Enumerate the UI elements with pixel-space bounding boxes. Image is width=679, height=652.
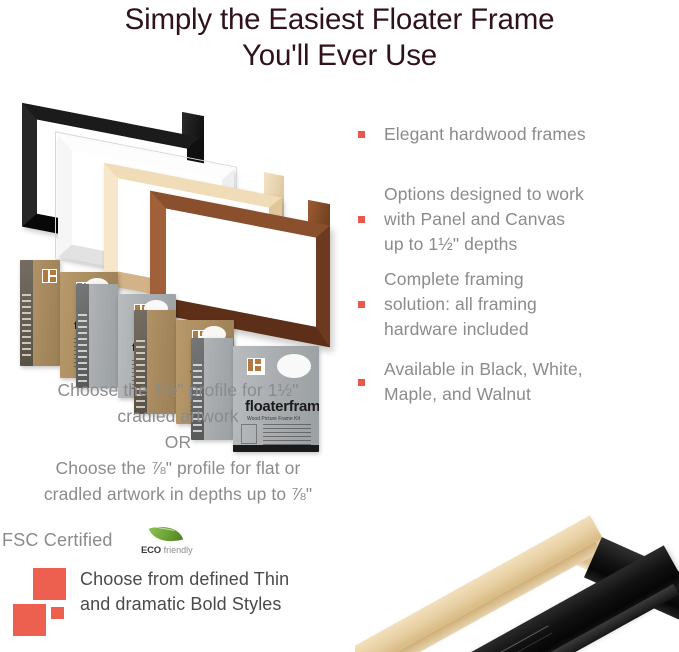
feature-line: Elegant hardwood frames: [384, 124, 586, 144]
feature-line: Maple, and Walnut: [384, 382, 583, 407]
profile-line-3: OR: [0, 429, 356, 455]
profile-line-5: cradled artwork in depths up to ⅞": [0, 481, 356, 507]
bullet-square-icon: [358, 216, 365, 223]
product-photo-frame-stack: floaterframe floaterframe: [8, 112, 356, 364]
package-box: [76, 284, 118, 388]
feature-line: hardware included: [384, 317, 537, 342]
feature-line: solution: all framing: [384, 292, 537, 317]
styles-line-2: and dramatic Bold Styles: [80, 592, 360, 617]
brand-logo-icon: [42, 269, 57, 283]
corner-profile-photo: [355, 470, 679, 652]
feature-line: with Panel and Canvas: [384, 207, 584, 232]
box-spine-ticks: [22, 294, 31, 360]
profile-line-4: Choose the ⅞" profile for flat or: [0, 455, 356, 481]
bullet-square-icon: [358, 301, 365, 308]
title-line-2: You'll Ever Use: [0, 38, 679, 74]
box-spine: [20, 260, 33, 366]
marketing-infographic: Simply the Easiest Floater Frame You'll …: [0, 0, 679, 652]
styles-line-1: Choose from defined Thin: [80, 567, 360, 592]
bullet-square-icon: [358, 379, 365, 386]
feature-line: Available in Black, White,: [384, 357, 583, 382]
eco-light-text: friendly: [164, 545, 193, 555]
feature-item-2: Options designed to work with Panel and …: [358, 182, 676, 257]
eco-friendly-badge: ECO friendly: [140, 524, 196, 560]
feature-item-3: Complete framing solution: all framing h…: [358, 267, 676, 342]
eco-badge-text: ECO friendly: [141, 545, 193, 556]
bullet-square-icon: [358, 131, 365, 138]
box-spine-ticks: [78, 314, 87, 382]
feature-line: up to 1½" depths: [384, 232, 584, 257]
feature-item-4: Available in Black, White, Maple, and Wa…: [358, 357, 676, 407]
frame-stack: floaterframe floaterframe: [8, 112, 356, 364]
profile-instructions: Choose the 1½" profile for 1½" cradled a…: [0, 377, 356, 507]
eco-bold-text: ECO: [141, 545, 161, 556]
black-frame-highlight: [447, 632, 552, 652]
feature-item-1: Elegant hardwood frames: [358, 122, 676, 147]
feature-text: Options designed to work with Panel and …: [384, 182, 584, 257]
decorative-square-large-bottom: [13, 604, 46, 636]
box-spine: [76, 284, 89, 388]
feature-line: Complete framing: [384, 267, 537, 292]
brand-logo-icon: [247, 358, 265, 375]
leaf-icon: [149, 520, 183, 547]
styles-caption: Choose from defined Thin and dramatic Bo…: [80, 567, 360, 617]
title-line-1: Simply the Easiest Floater Frame: [125, 3, 555, 36]
feature-text: Available in Black, White, Maple, and Wa…: [384, 357, 583, 407]
package-box: [20, 260, 60, 366]
box-callout-bubble: [277, 354, 311, 378]
decorative-square-large-top: [33, 568, 66, 600]
profile-line-1: Choose the 1½" profile for 1½": [0, 377, 356, 403]
fsc-certified-label: FSC Certified: [2, 530, 113, 551]
feature-text: Elegant hardwood frames: [384, 122, 586, 147]
feature-line: Options designed to work: [384, 182, 584, 207]
decorative-square-small: [51, 607, 64, 619]
feature-text: Complete framing solution: all framing h…: [384, 267, 537, 342]
page-title: Simply the Easiest Floater Frame You'll …: [0, 2, 679, 74]
profile-line-2: cradled artwork: [0, 403, 356, 429]
